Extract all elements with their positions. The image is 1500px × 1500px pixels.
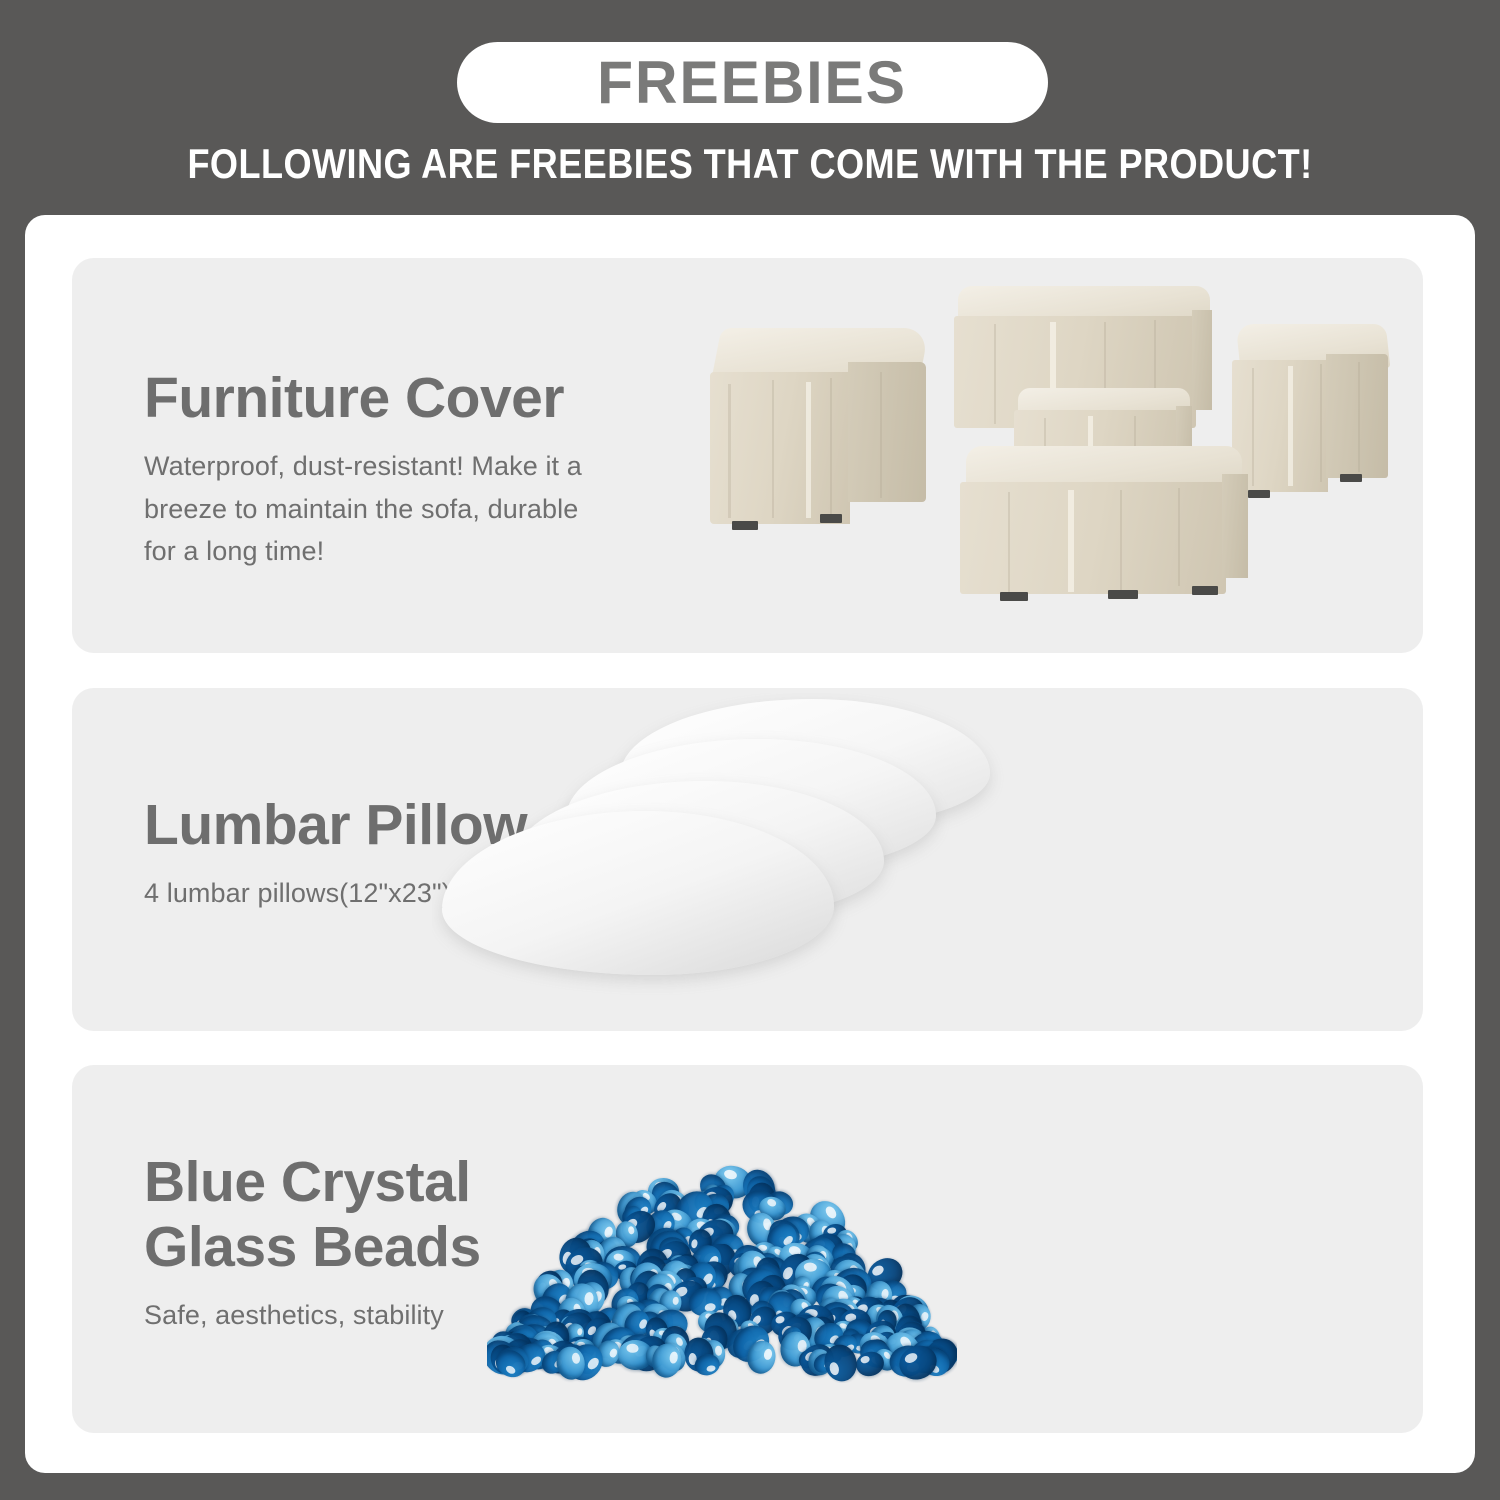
header-subtitle: FOLLOWING ARE FREEBIES THAT COME WITH TH… bbox=[105, 140, 1395, 188]
title-badge: FREEBIES bbox=[457, 42, 1048, 123]
cover-ottoman-front bbox=[960, 446, 1250, 606]
freebie-card-furniture-cover: Furniture Cover Waterproof, dust-resista… bbox=[72, 258, 1423, 653]
header: FREEBIES FOLLOWING ARE FREEBIES THAT COM… bbox=[0, 0, 1500, 200]
bead-pile bbox=[487, 1083, 957, 1383]
lumbar-pillow-photo bbox=[432, 693, 1052, 1023]
cover-sofa-left bbox=[710, 328, 930, 533]
freebie-card-glass-beads: Blue Crystal Glass Beads Safe, aesthetic… bbox=[72, 1065, 1423, 1433]
freebie-card-lumbar-pillow: Lumbar Pillow 4 lumbar pillows(12"x23"),… bbox=[72, 688, 1423, 1031]
page-title: FREEBIES bbox=[598, 53, 908, 113]
cover-chair-right bbox=[1232, 324, 1392, 504]
card-text-block: Furniture Cover Waterproof, dust-resista… bbox=[144, 366, 724, 573]
blue-crystal-glass-beads-photo bbox=[487, 1083, 957, 1383]
furniture-cover-photo bbox=[702, 278, 1402, 638]
card-heading: Furniture Cover bbox=[144, 366, 724, 431]
content-panel: Furniture Cover Waterproof, dust-resista… bbox=[25, 215, 1475, 1473]
card-description: Waterproof, dust-resistant! Make it a br… bbox=[144, 445, 724, 573]
